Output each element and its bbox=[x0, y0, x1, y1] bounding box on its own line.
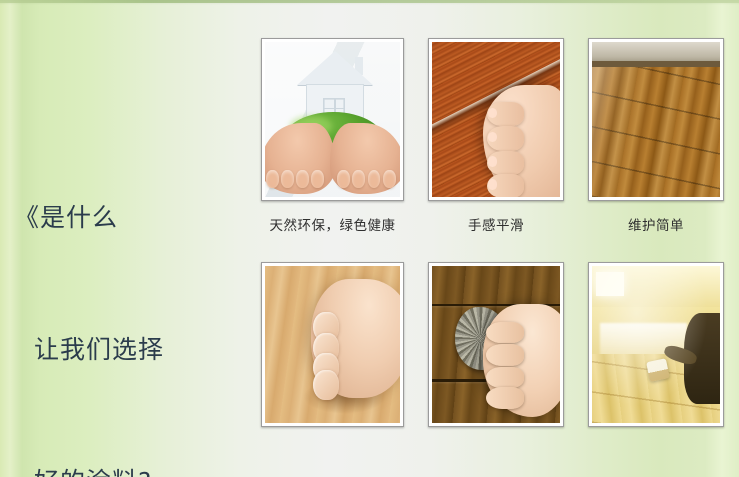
gallery-item-hardness[interactable]: 超高硬度 bbox=[261, 262, 404, 427]
gallery-item-smooth[interactable]: 手感平滑 bbox=[428, 38, 564, 201]
fist-on-wood-photo bbox=[265, 266, 400, 423]
gallery-item-maintenance[interactable]: 维护简单 bbox=[588, 38, 724, 201]
finger bbox=[337, 170, 350, 189]
glossy-wood-floor-photo bbox=[592, 42, 720, 197]
photo-frame bbox=[261, 38, 404, 201]
promo-banner: 《是什么 让我们选择 好的涂料? 涂料 遇到那些问题！》 bbox=[0, 0, 739, 477]
finger bbox=[296, 170, 309, 189]
headline-line-1: 《是什么 bbox=[14, 196, 252, 240]
gallery-caption: 维护简单 bbox=[588, 214, 724, 234]
gloss-reflection bbox=[592, 67, 656, 197]
top-border-line bbox=[0, 0, 739, 3]
gallery-caption: 天然环保，绿色健康 bbox=[261, 214, 404, 234]
hand-shape bbox=[483, 85, 560, 197]
finger bbox=[311, 170, 324, 189]
hand-scrubbing-wood-photo bbox=[432, 266, 560, 423]
headline-line-2: 让我们选择 bbox=[14, 328, 252, 372]
photo-frame bbox=[428, 38, 564, 201]
finger bbox=[368, 170, 381, 189]
sunlight-glow bbox=[592, 266, 720, 423]
hand-shape bbox=[483, 304, 560, 417]
finger bbox=[383, 170, 396, 189]
finger bbox=[266, 170, 279, 189]
fist-shape bbox=[311, 279, 400, 398]
gallery-item-wear-resistance[interactable]: 超高耐磨性，易修复性 bbox=[428, 262, 564, 427]
finger bbox=[352, 170, 365, 189]
headline-line-3: 好的涂料? bbox=[14, 460, 252, 477]
hands-holding-grass-house-photo bbox=[265, 42, 400, 197]
gallery-item-eco[interactable]: 天然环保，绿色健康 bbox=[261, 38, 404, 201]
roof-shape bbox=[297, 51, 373, 85]
photo-frame bbox=[588, 262, 724, 427]
hand-on-wood-floor-photo bbox=[432, 42, 560, 197]
gallery-item-easy-application[interactable]: 施工简单，涂刷次数少 bbox=[588, 262, 724, 427]
photo-frame bbox=[261, 262, 404, 427]
gallery-caption: 手感平滑 bbox=[428, 214, 564, 234]
photo-frame bbox=[428, 262, 564, 427]
person-varnishing-floor-photo bbox=[592, 266, 720, 423]
finger bbox=[281, 170, 294, 189]
page-title: 《是什么 让我们选择 好的涂料? 涂料 遇到那些问题！》 bbox=[14, 108, 252, 477]
right-hand bbox=[330, 123, 400, 194]
knuckle bbox=[313, 370, 339, 400]
left-hand bbox=[265, 123, 335, 194]
photo-frame bbox=[588, 38, 724, 201]
